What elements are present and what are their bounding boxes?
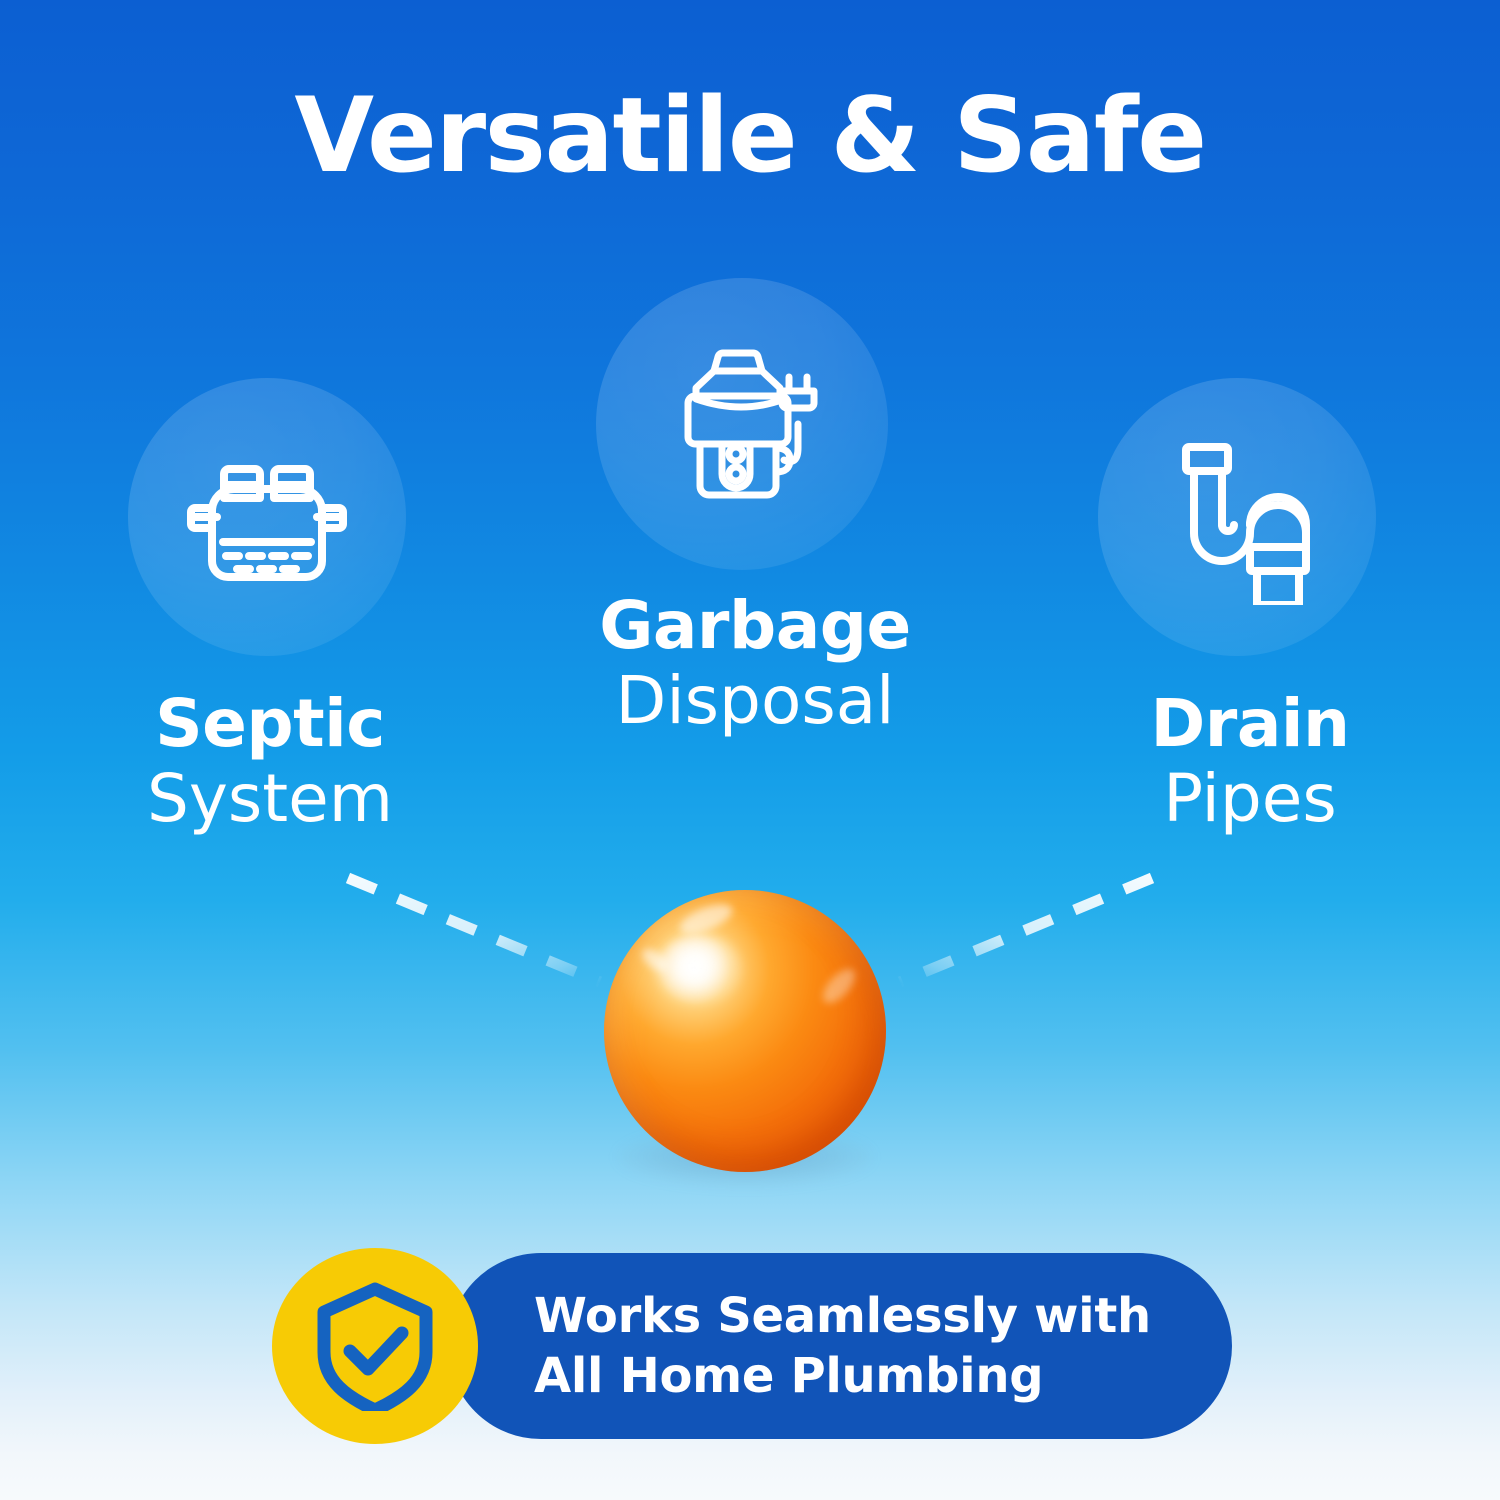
feature-icon-circle-disposal [596,278,888,570]
septic-tank-icon [179,429,355,605]
feature-label-disposal-light: Disposal [520,667,990,734]
connector-drain [900,878,1152,982]
promo-graphic: Versatile & Safe [0,0,1500,1500]
feature-label-drain-light: Pipes [1040,765,1460,832]
feature-icon-circle-septic [128,378,406,656]
product-pod [604,890,886,1172]
feature-label-disposal: Garbage Disposal [520,592,990,735]
banner-text: Works Seamlessly with All Home Plumbing [534,1286,1194,1407]
banner-text-line1: Works Seamlessly with [534,1286,1194,1346]
pod-highlight [656,934,742,1004]
drain-pipe-trap-icon [1149,429,1325,605]
garbage-disposal-icon [644,326,840,522]
shield-check-icon [314,1281,436,1411]
feature-icon-circle-drain [1098,378,1376,656]
feature-label-septic-bold: Septic [40,690,500,757]
connector-septic [348,878,600,982]
feature-label-disposal-bold: Garbage [520,592,990,659]
pod-rim-light [604,890,886,1172]
banner-badge [272,1248,478,1444]
feature-label-septic-light: System [40,765,500,832]
banner-text-line2: All Home Plumbing [534,1346,1194,1406]
feature-label-septic: Septic System [40,690,500,833]
feature-label-drain-bold: Drain [1040,690,1460,757]
feature-label-drain: Drain Pipes [1040,690,1460,833]
assurance-banner: Works Seamlessly with All Home Plumbing [272,1248,1232,1444]
